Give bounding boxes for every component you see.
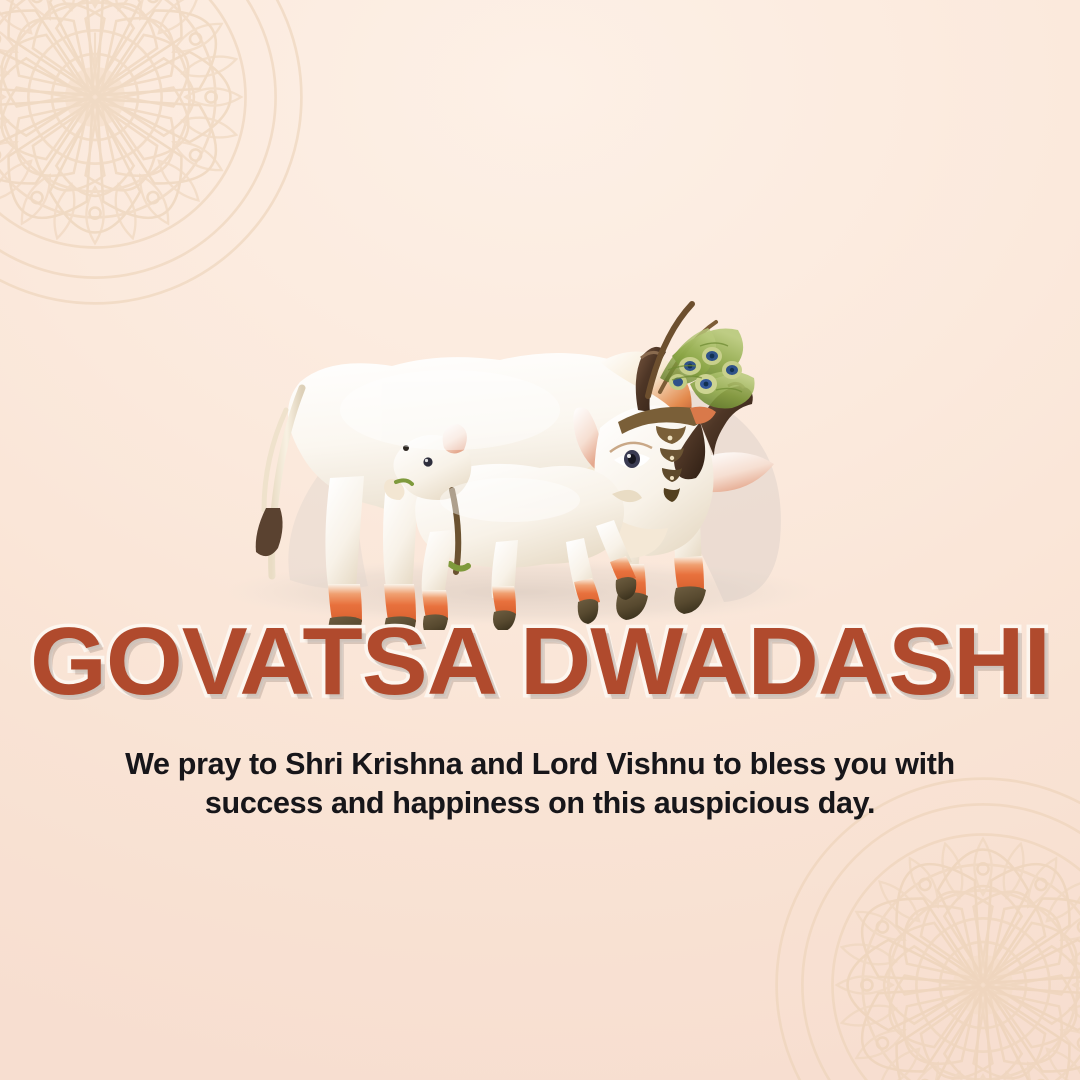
- greeting-line-2: success and happiness on this auspicious…: [205, 786, 875, 820]
- calf-eye: [423, 457, 432, 466]
- decorated-cow-and-calf-illustration: [0, 160, 1080, 630]
- headline-text: GOVATSA DWADASHI: [30, 614, 1050, 710]
- greeting-poster: GOVATSA DWADASHI We pray to Shri Krishna…: [0, 0, 1080, 1080]
- page-title: GOVATSA DWADASHI: [0, 614, 1080, 710]
- greeting-line-1: We pray to Shri Krishna and Lord Vishnu …: [125, 747, 955, 781]
- greeting-message: We pray to Shri Krishna and Lord Vishnu …: [90, 745, 990, 823]
- tail-tuft: [256, 508, 283, 556]
